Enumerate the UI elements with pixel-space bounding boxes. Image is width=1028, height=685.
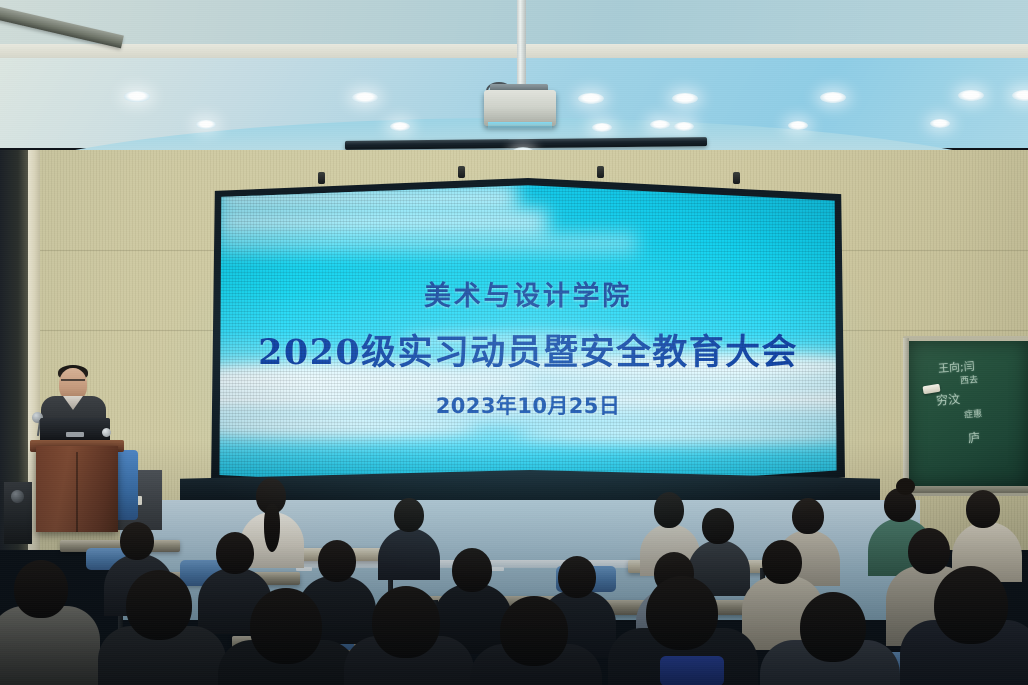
person-hair-bun [896, 478, 915, 495]
person-head [800, 592, 866, 662]
person-head [318, 540, 356, 582]
ceiling-downlight [352, 92, 378, 103]
ceiling-downlight [196, 120, 216, 129]
person-ponytail [264, 504, 280, 552]
person-head [558, 556, 596, 598]
person-head [120, 522, 154, 560]
slide-cloud [217, 416, 477, 438]
person-head [452, 548, 492, 592]
chalk-text: 西去 [960, 372, 979, 386]
glasses-icon [61, 379, 85, 387]
person-head [126, 570, 192, 640]
ceiling-downlight [592, 123, 612, 132]
person-head [702, 508, 734, 544]
chalk-text: 症惠 [964, 406, 983, 420]
person-jacket-graphic [660, 656, 724, 685]
person-head [250, 588, 322, 664]
led-video-wall: 美术与设计学院 2020级实习动员暨安全教育大会 2023年10月25日 [211, 178, 845, 500]
ceiling-projector [484, 90, 556, 126]
ceiling-downlight [390, 122, 410, 131]
projector-pole-mount [517, 0, 526, 92]
ceiling-downlight [672, 93, 698, 104]
projector-light-glow [488, 122, 552, 130]
slide-cloud [517, 424, 839, 444]
ceiling-downlight [650, 120, 670, 129]
ceiling-downlight [930, 119, 950, 128]
person-head [500, 596, 568, 666]
ceiling-downlight [958, 90, 984, 101]
blackboard-chalk-tray [903, 486, 1028, 493]
blackboard: 王向;闫 西去 穷汶 症惠 庐 [908, 341, 1028, 487]
person-head [966, 490, 1000, 528]
chalk-text: 庐 [967, 429, 980, 447]
person-head [654, 492, 684, 528]
wall-speaker [597, 166, 604, 178]
person-head [14, 560, 68, 618]
computer-tower-dial [11, 490, 24, 503]
screen-display-surface: 美术与设计学院 2020级实习动员暨安全教育大会 2023年10月25日 [217, 184, 839, 492]
slide-cloud [397, 332, 657, 348]
person-head [394, 498, 424, 532]
person-head [934, 566, 1008, 644]
ceiling-downlight [578, 93, 604, 104]
person-head [372, 586, 440, 658]
person-head [646, 576, 718, 650]
ceiling-downlight [674, 122, 694, 131]
blackboard-side-post [903, 338, 909, 488]
person-head [762, 540, 802, 584]
ceiling-downlight [820, 92, 846, 103]
microphone [102, 428, 111, 437]
slide-organization-text: 美术与设计学院 [217, 274, 839, 313]
person-head [908, 528, 950, 574]
chalk-text: 穷汶 [935, 390, 960, 409]
ceiling-downlight [124, 91, 150, 102]
person-torso [0, 606, 100, 685]
podium-panel-seam [76, 452, 78, 532]
lecture-hall-photo: 美术与设计学院 2020级实习动员暨安全教育大会 2023年10月25日 王向;… [0, 0, 1028, 685]
slide-cloud [217, 234, 637, 252]
person-head [216, 532, 254, 574]
person-head [792, 498, 824, 534]
laptop-badge [66, 432, 84, 437]
slide-cloud [217, 210, 547, 234]
wall-speaker [458, 166, 465, 178]
ceiling-downlight [788, 121, 808, 130]
